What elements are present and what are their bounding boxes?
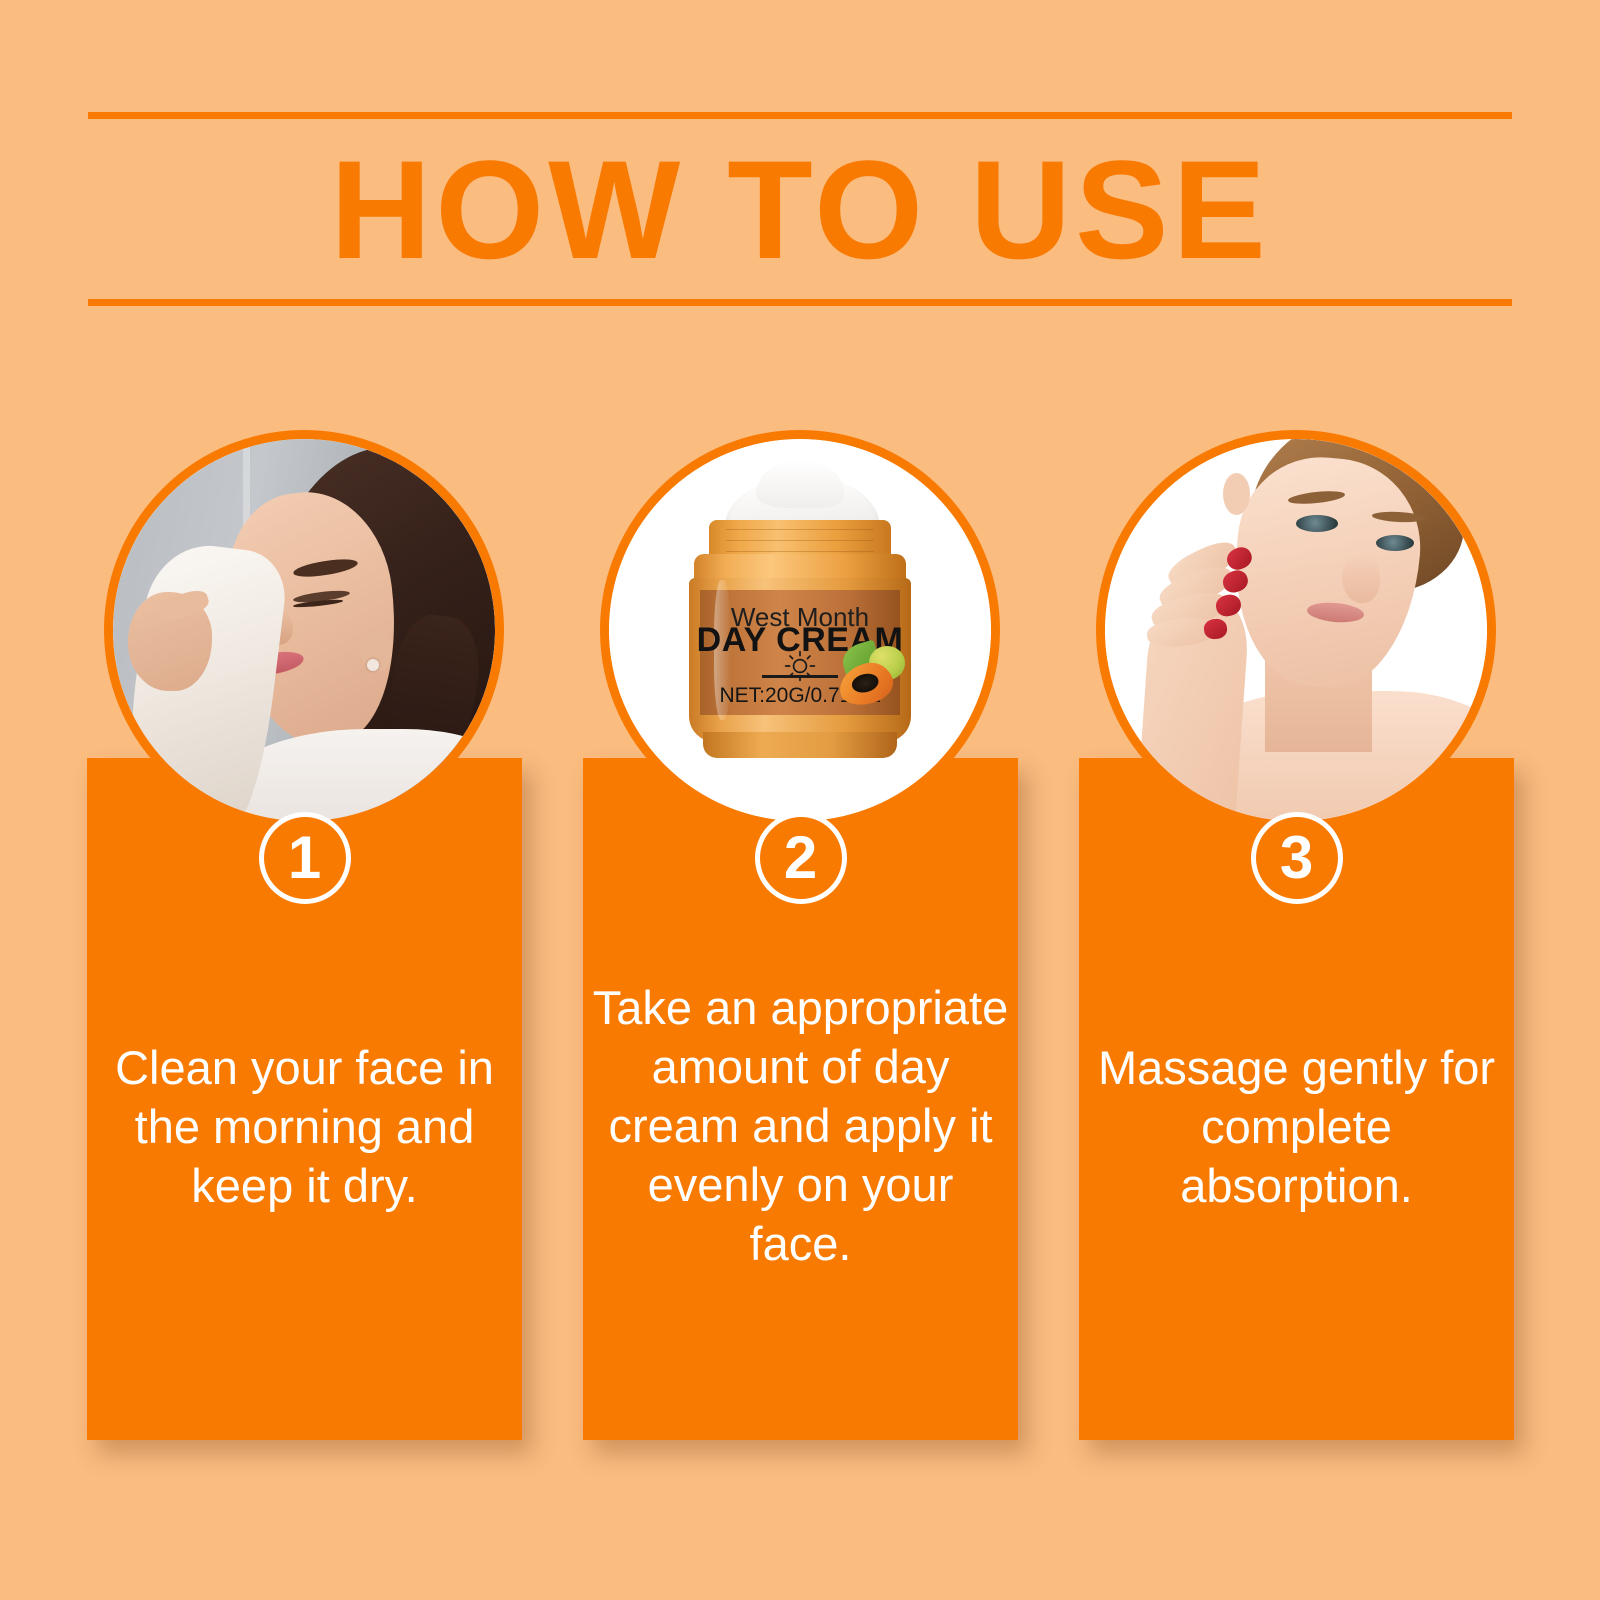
step-badge-3: 3 xyxy=(1251,812,1343,904)
step-badge-2: 2 xyxy=(755,812,847,904)
step-card-1: 1 Clean your face in the morning and kee… xyxy=(87,430,522,1440)
steps-row: 1 Clean your face in the morning and kee… xyxy=(87,430,1513,1450)
header-rule-top xyxy=(88,112,1512,119)
step-3-photo xyxy=(1096,430,1496,830)
photo-earring xyxy=(367,659,379,671)
step-2-photo-image: West Month DAY CREAM xyxy=(609,439,991,821)
jar-neck xyxy=(709,520,891,559)
page-title: HOW TO USE xyxy=(88,119,1512,299)
papaya-icon xyxy=(838,641,907,706)
step-caption-3: Massage gently for complete absorption. xyxy=(1087,1038,1506,1215)
photo-eye xyxy=(1376,535,1414,551)
step-badge-1: 1 xyxy=(259,812,351,904)
step-1-photo-image xyxy=(113,439,495,821)
step-2-photo: West Month DAY CREAM xyxy=(600,430,1000,830)
jar-thread xyxy=(726,551,875,552)
header-rule-bottom xyxy=(88,299,1512,306)
jar-label-divider xyxy=(762,675,838,678)
step-1-photo xyxy=(104,430,504,830)
page-header: HOW TO USE xyxy=(88,112,1512,306)
step-card-2: West Month DAY CREAM xyxy=(583,430,1018,1440)
step-card-3: 3 Massage gently for complete absorption… xyxy=(1079,430,1514,1440)
product-jar: West Month DAY CREAM xyxy=(689,515,911,756)
step-caption-1: Clean your face in the morning and keep … xyxy=(95,1038,514,1215)
jar-base xyxy=(703,732,898,758)
step-caption-2: Take an appropriate amount of day cream … xyxy=(591,978,1010,1273)
step-3-photo-image xyxy=(1105,439,1487,821)
fruit-seeds xyxy=(850,671,880,695)
jar-thread xyxy=(726,540,875,541)
photo-nose xyxy=(1342,554,1380,604)
jar-thread xyxy=(726,529,875,530)
